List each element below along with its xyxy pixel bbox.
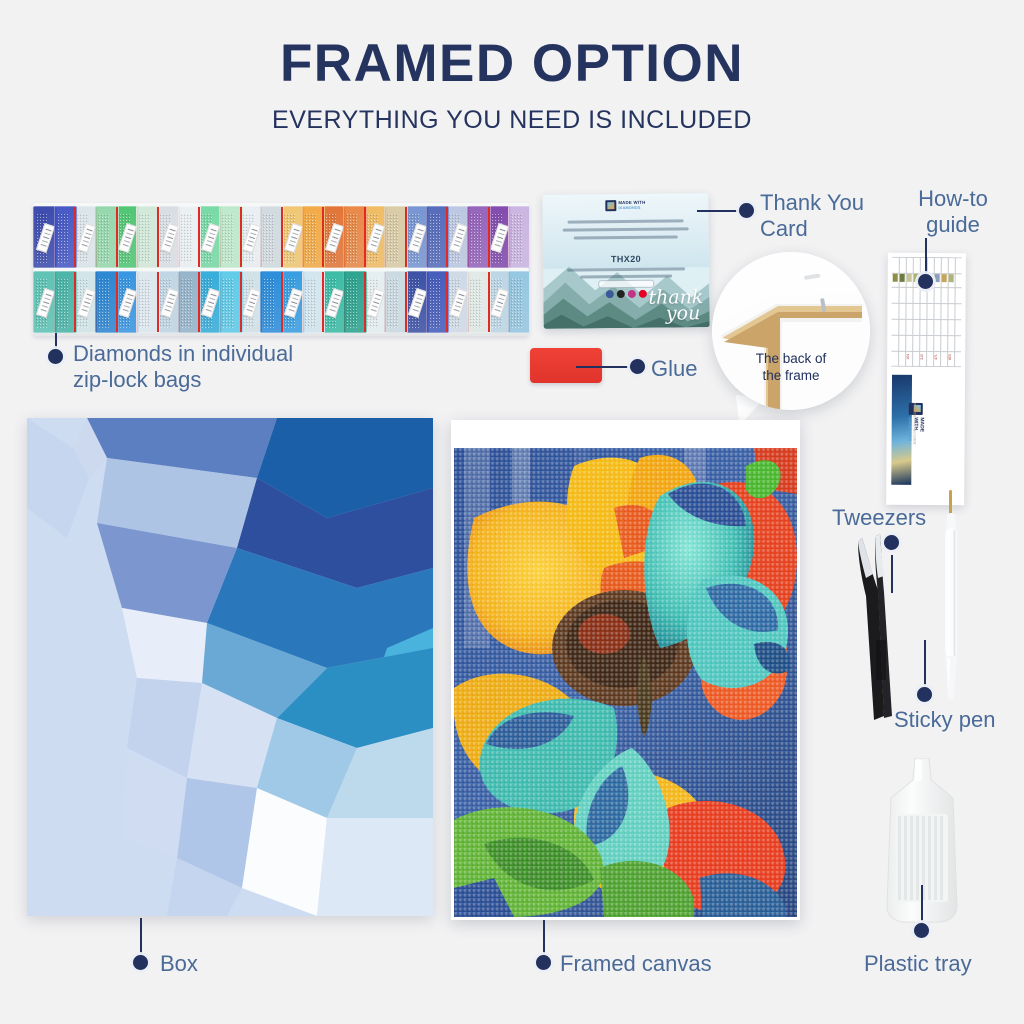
zip-seal bbox=[405, 207, 407, 267]
zip-seal bbox=[364, 207, 366, 267]
zip-seal bbox=[281, 207, 283, 267]
diamond-beads bbox=[305, 213, 317, 263]
zip-seal bbox=[405, 272, 407, 332]
diamond-bag bbox=[260, 206, 284, 268]
diamond-beads bbox=[57, 213, 69, 263]
card-logo: MADE WITH DIAMONDS bbox=[605, 200, 645, 211]
framed-canvas bbox=[451, 420, 800, 920]
marker-dot-tweezers[interactable] bbox=[884, 535, 899, 550]
tweezers-illustration bbox=[852, 530, 908, 722]
diamond-bag bbox=[384, 271, 408, 333]
zip-seal bbox=[446, 272, 448, 332]
product-box: MADEWITH DIAMONDS bbox=[27, 418, 433, 916]
diamond-bag bbox=[302, 271, 326, 333]
bubble-body: The back of the frame bbox=[712, 252, 870, 410]
diamond-bag bbox=[219, 271, 243, 333]
diamond-beads bbox=[387, 213, 399, 263]
back-of-frame-callout-bubble: The back of the frame bbox=[712, 252, 870, 410]
sticky-pen-tool bbox=[936, 490, 966, 705]
diamond-bag bbox=[426, 206, 450, 268]
zip-seal bbox=[322, 272, 324, 332]
diamond-beads bbox=[263, 213, 275, 263]
diamond-bag bbox=[95, 206, 119, 268]
diamond-beads bbox=[346, 278, 358, 328]
marker-dot-thank-you-card[interactable] bbox=[739, 203, 754, 218]
tiktok-icon bbox=[617, 290, 625, 298]
leader-line-sticky-pen bbox=[924, 640, 926, 686]
diamond-beads bbox=[98, 278, 110, 328]
diamond-beads bbox=[263, 278, 275, 328]
sticky-pen-illustration bbox=[936, 490, 966, 705]
zip-seal bbox=[198, 207, 200, 267]
zip-seal bbox=[364, 272, 366, 332]
diamond-bag bbox=[343, 271, 367, 333]
diamond-bag bbox=[178, 206, 202, 268]
diamond-beads bbox=[387, 278, 399, 328]
frame-corner-photo bbox=[712, 252, 870, 410]
diamond-beads bbox=[305, 278, 317, 328]
marker-dot-box[interactable] bbox=[133, 955, 148, 970]
label-plastic-tray: Plastic tray bbox=[864, 951, 972, 977]
diamond-bag bbox=[467, 271, 491, 333]
marker-dot-diamond-bags[interactable] bbox=[48, 349, 63, 364]
zip-seal bbox=[116, 207, 118, 267]
diamond-bag bbox=[136, 206, 160, 268]
leader-line-glue bbox=[576, 366, 636, 368]
leader-line-thank-you-card bbox=[697, 210, 745, 212]
diamond-beads bbox=[511, 213, 523, 263]
diamond-bag bbox=[467, 206, 491, 268]
tweezers-tool bbox=[852, 530, 908, 722]
page-title: FRAMED OPTION bbox=[0, 36, 1024, 92]
diamond-beads bbox=[181, 278, 193, 328]
marker-dot-framed-canvas[interactable] bbox=[536, 955, 551, 970]
diamond-beads bbox=[139, 278, 151, 328]
marker-dot-how-to-guide[interactable] bbox=[918, 274, 933, 289]
box-polygon-artwork bbox=[27, 418, 433, 916]
diamond-beads bbox=[470, 278, 482, 328]
card-script-text: thank you bbox=[648, 289, 703, 322]
diamond-beads bbox=[470, 213, 482, 263]
diamond-beads bbox=[429, 213, 441, 263]
diamond-beads bbox=[139, 213, 151, 263]
instagram-icon bbox=[628, 290, 636, 298]
leader-line-box bbox=[140, 918, 142, 958]
label-box: Box bbox=[160, 951, 198, 977]
how-to-guide-sheet: 853 471 310 164 MADE WITH DIAMONDS DIAMO… bbox=[886, 253, 966, 506]
zip-seal bbox=[74, 207, 76, 267]
card-script-line2: you bbox=[652, 305, 701, 322]
leader-line-tweezers bbox=[891, 555, 893, 593]
card-logo-line1: MADE WITH bbox=[618, 200, 645, 205]
diamond-bag-row-top bbox=[33, 203, 529, 271]
leader-line-plastic-tray bbox=[921, 885, 923, 927]
card-logo-text: MADE WITH DIAMONDS bbox=[618, 200, 645, 211]
guide-caption: DIAMOND PAINTING GUIDE bbox=[913, 403, 917, 445]
zip-seal bbox=[116, 272, 118, 332]
diamond-bag bbox=[508, 271, 529, 333]
card-website-bar bbox=[598, 280, 654, 289]
facebook-icon bbox=[606, 290, 614, 298]
label-how-to-guide: How-to guide bbox=[893, 186, 1013, 238]
diamond-bag bbox=[426, 271, 450, 333]
zip-seal bbox=[322, 207, 324, 267]
leader-line-framed-canvas bbox=[543, 920, 545, 958]
zip-seal bbox=[488, 207, 490, 267]
marker-dot-sticky-pen[interactable] bbox=[917, 687, 932, 702]
diamond-beads bbox=[511, 278, 523, 328]
thank-you-card: MADE WITH DIAMONDS THX20 thank you bbox=[542, 193, 709, 329]
marker-dot-plastic-tray[interactable] bbox=[914, 923, 929, 938]
label-tweezers: Tweezers bbox=[832, 505, 926, 531]
zip-seal bbox=[157, 272, 159, 332]
zip-seal bbox=[281, 272, 283, 332]
canvas-artwork bbox=[454, 448, 797, 917]
diamond-bag bbox=[384, 206, 408, 268]
label-diamond-bags: Diamonds in individual zip-lock bags bbox=[73, 341, 373, 393]
diamond-beads bbox=[346, 213, 358, 263]
diamond-beads bbox=[181, 213, 193, 263]
card-logo-line2: DIAMONDS bbox=[618, 206, 645, 211]
diamond-bag bbox=[95, 271, 119, 333]
diamond-beads bbox=[429, 278, 441, 328]
zip-seal bbox=[157, 207, 159, 267]
diamond-bag bbox=[302, 206, 326, 268]
page-subtitle: EVERYTHING YOU NEED IS INCLUDED bbox=[0, 106, 1024, 135]
card-social-icons bbox=[606, 290, 647, 298]
pinterest-icon bbox=[639, 290, 647, 298]
label-framed-canvas: Framed canvas bbox=[560, 951, 712, 977]
zip-seal bbox=[240, 207, 242, 267]
label-thank-you-card: Thank You Card bbox=[760, 190, 890, 242]
zip-seal bbox=[488, 272, 490, 332]
diamond-bag bbox=[54, 206, 78, 268]
diamond-bag bbox=[343, 206, 367, 268]
diamond-beads bbox=[222, 278, 234, 328]
diamond-bag bbox=[178, 271, 202, 333]
zip-seal bbox=[446, 207, 448, 267]
promo-code: THX20 bbox=[611, 254, 641, 264]
diamond-bag-row-bottom bbox=[33, 268, 529, 336]
diamond-bag bbox=[508, 206, 529, 268]
label-sticky-pen: Sticky pen bbox=[894, 707, 996, 733]
diamond-bag bbox=[260, 271, 284, 333]
zip-seal bbox=[74, 272, 76, 332]
bubble-caption: The back of the frame bbox=[712, 351, 870, 384]
diamond-beads bbox=[98, 213, 110, 263]
marker-dot-glue[interactable] bbox=[630, 359, 645, 374]
diamond-bag bbox=[136, 271, 160, 333]
zip-seal bbox=[240, 272, 242, 332]
diamond-beads bbox=[57, 278, 69, 328]
diamond-dot-texture bbox=[454, 448, 797, 917]
diamond-bag bbox=[219, 206, 243, 268]
diamond-logo-icon bbox=[605, 200, 616, 211]
diamond-beads bbox=[222, 213, 234, 263]
diamond-bag bbox=[54, 271, 78, 333]
label-glue: Glue bbox=[651, 356, 697, 382]
zip-seal bbox=[198, 272, 200, 332]
